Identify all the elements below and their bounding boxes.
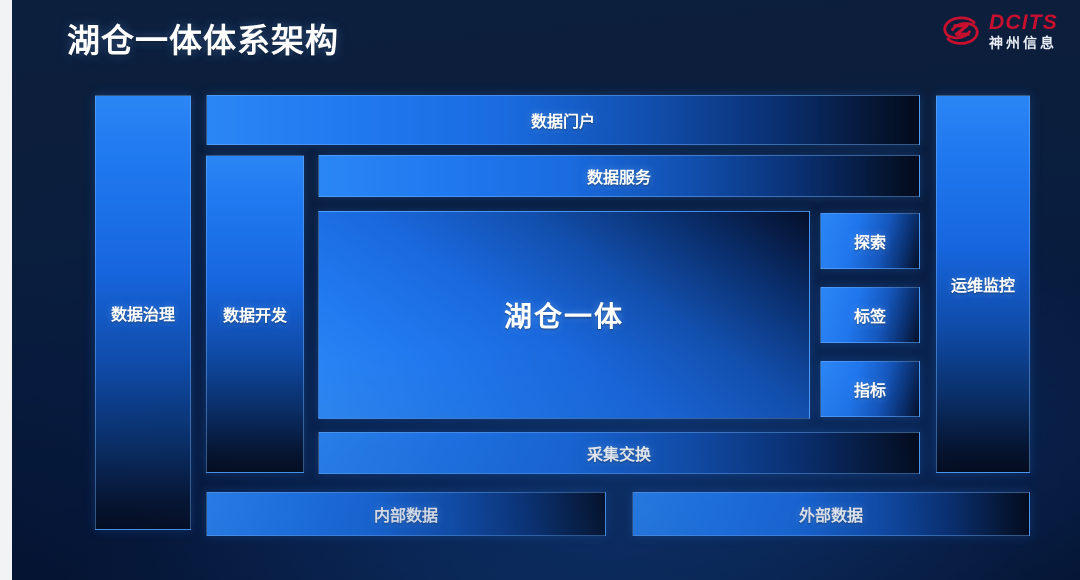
page-title: 湖仓一体体系架构 xyxy=(67,14,339,62)
block-external-data[interactable]: 外部数据 xyxy=(632,492,1030,536)
block-explore[interactable]: 探索 xyxy=(820,213,920,269)
block-label: 数据治理 xyxy=(111,301,175,325)
block-tag[interactable]: 标签 xyxy=(820,287,920,343)
block-label: 指标 xyxy=(854,377,886,401)
block-label: 采集交换 xyxy=(587,441,651,465)
dcits-swirl-logo-icon xyxy=(940,14,982,48)
slide-canvas: 湖仓一体体系架构 DCITS 神州信息 数据治理 数据开发 数据门户 xyxy=(12,0,1080,580)
block-internal-data[interactable]: 内部数据 xyxy=(206,492,606,536)
block-label: 数据服务 xyxy=(587,164,651,188)
block-lakehouse-core[interactable]: 湖仓一体 xyxy=(318,211,810,419)
block-label: 数据开发 xyxy=(223,302,287,326)
logo-chinese: 神州信息 xyxy=(989,36,1058,50)
block-label: 湖仓一体 xyxy=(504,295,624,335)
block-label: 运维监控 xyxy=(951,272,1015,296)
block-collection-exchange[interactable]: 采集交换 xyxy=(318,432,920,474)
block-label: 内部数据 xyxy=(374,502,438,526)
block-metric[interactable]: 指标 xyxy=(820,361,920,417)
block-label: 标签 xyxy=(854,303,886,327)
block-label: 外部数据 xyxy=(799,502,863,526)
block-label: 探索 xyxy=(854,229,886,253)
logo-english: DCITS xyxy=(989,12,1058,33)
block-label: 数据门户 xyxy=(531,108,595,132)
block-data-portal[interactable]: 数据门户 xyxy=(206,95,920,145)
logo-text: DCITS 神州信息 xyxy=(989,12,1058,50)
brand-logo: DCITS 神州信息 xyxy=(940,12,1058,50)
slide-root: 湖仓一体体系架构 DCITS 神州信息 数据治理 数据开发 数据门户 xyxy=(0,0,1080,580)
block-data-governance[interactable]: 数据治理 xyxy=(95,95,191,530)
block-data-development[interactable]: 数据开发 xyxy=(206,155,304,473)
block-data-service[interactable]: 数据服务 xyxy=(318,155,920,197)
block-ops-monitoring[interactable]: 运维监控 xyxy=(936,95,1030,473)
